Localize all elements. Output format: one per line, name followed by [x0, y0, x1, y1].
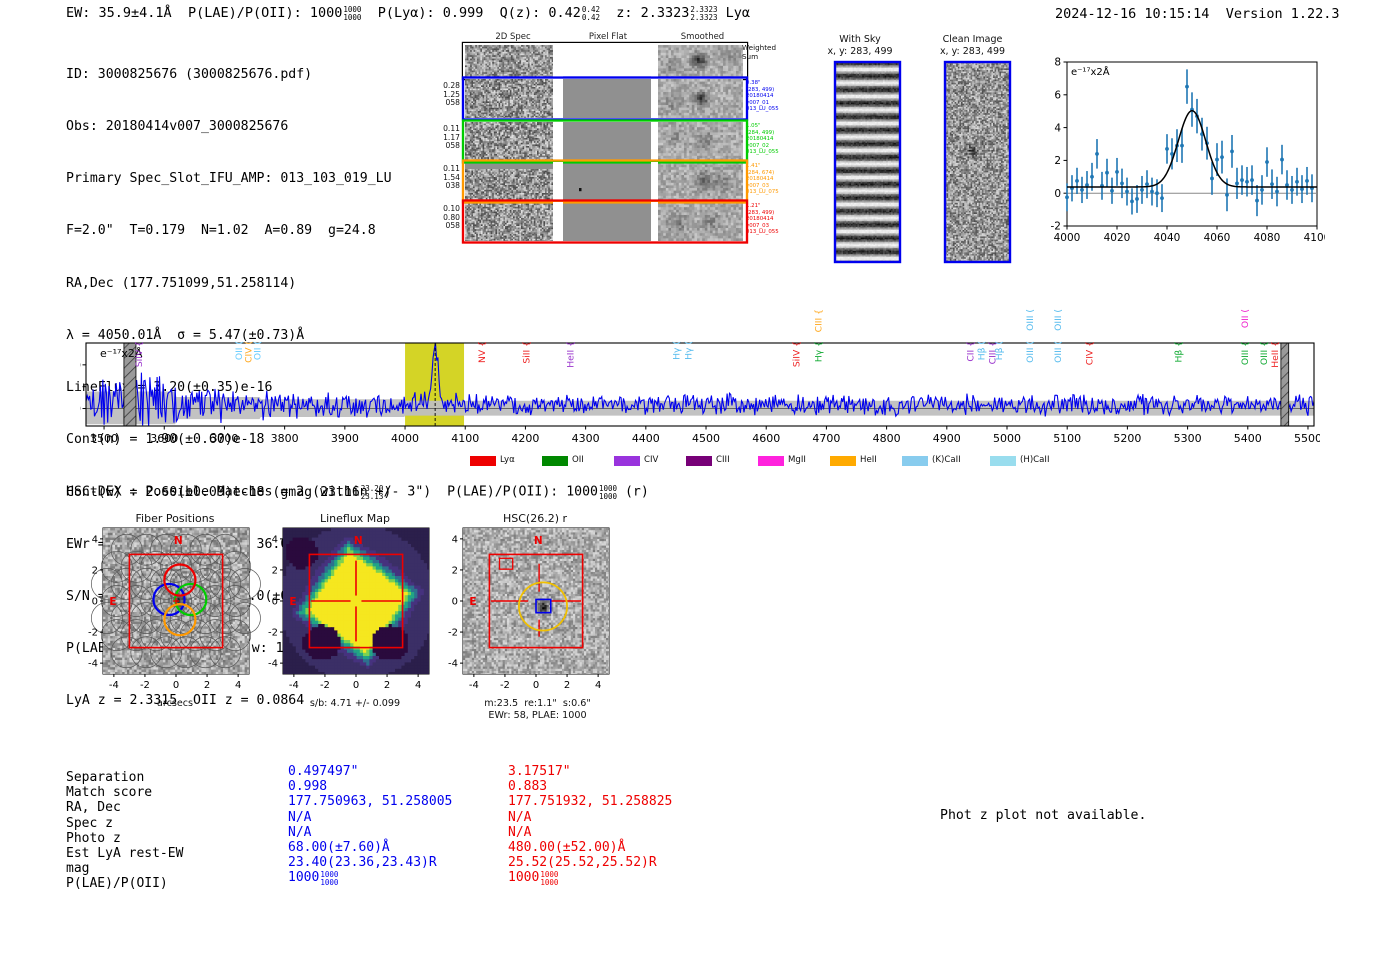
legend-swatch-oii [542, 456, 568, 466]
legend-swatch-lyα [470, 456, 496, 466]
info-obs: Obs: 20180414v007_3000825676 [66, 118, 392, 135]
legend-label-kcaii: (K)CaII [932, 455, 961, 465]
fiber-row-meta-0: 0.38" (283, 499) 20180414 v007_01 013_LU… [746, 80, 779, 113]
fiber-row-stats-0: 0.28 1.25 058 [430, 82, 460, 108]
emission-line-legend: LyαOIICIVCIIIMgIIHeII(K)CaII(H)CaII [470, 455, 940, 469]
match-row-red-7: 100010001000 [508, 870, 558, 885]
spectrum-line-marker-13: Hβ ( [977, 341, 988, 360]
header-qz-label: Q(z): 0.42 [500, 5, 581, 21]
legend-label-lyα: Lyα [500, 455, 515, 465]
spectrum-line-marker-25: HeII { [1270, 341, 1281, 368]
imaging-panels: Fiber Positions Lineflux Map HSC(26.2) r… [55, 506, 675, 746]
spectrum-line-marker-22: OIII { [1240, 341, 1251, 365]
header-timestamp-version: 2024-12-16 10:15:14 Version 1.22.3 [1055, 6, 1340, 22]
photz-note: Phot z plot not available. [940, 808, 1146, 823]
spectrum-line-marker-4: NV { [477, 341, 488, 363]
header-plae-label: P(LAE)/P(OII): 1000 [188, 5, 342, 21]
fiber-row-stats-3: 0.10 0.80 058 [430, 205, 460, 231]
match-row-label-6: mag [66, 861, 89, 876]
info-seeing-params: F=2.0" T=0.179 N=1.02 A=0.89 g=24.8 [66, 222, 392, 239]
match-row-red-5: 480.00(±52.00)Å [508, 840, 625, 855]
legend-swatch-mgii [758, 456, 784, 466]
spectrum-line-marker-8: Hγ ( [684, 341, 695, 360]
header-plae-range: 10001000 [343, 6, 361, 21]
match-row-blue-3: N/A [288, 810, 311, 825]
cutout-images: With Skyx, y: 283, 499 Clean Imagex, y: … [810, 32, 1030, 272]
spectrum-line-marker-3: OII ( [253, 341, 264, 360]
spectrum-line-marker-11: CIII { [814, 309, 825, 332]
hscdex-plae-range: 10001000 [599, 485, 617, 500]
spectrum-line-marker-20: CIV { [1085, 341, 1096, 365]
spectrum-line-marker-10: Hγ { [814, 341, 825, 362]
header-datetime: 2024-12-16 10:15:14 [1055, 6, 1209, 22]
info-id: ID: 3000825676 (3000825676.pdf) [66, 66, 392, 83]
legend-label-civ: CIV [644, 455, 658, 465]
spectrum-line-marker-5: SiII { [522, 341, 533, 364]
header-z-type: Lyα [726, 5, 750, 21]
header-qz-range: 0.420.42 [582, 6, 600, 21]
legend-label-heii: HeII [860, 455, 877, 465]
match-row-blue-1: 0.998 [288, 779, 327, 794]
spectrum-line-marker-23: OII ( [1240, 309, 1251, 328]
match-row-label-1: Match score [66, 785, 152, 800]
legend-label-ciii: CIII [716, 455, 730, 465]
legend-label-oii: OII [572, 455, 584, 465]
match-row-blue-0: 0.497497" [288, 764, 358, 779]
spectrum-line-marker-17: OIII ( [1025, 309, 1036, 331]
fiber-row-meta-3: 1.21" (283, 499) 20180414 v007_03 013_LU… [746, 203, 779, 236]
panel-xlabel-arcsecs: arcsecs [80, 698, 270, 710]
panel-footer-lineflux: s/b: 4.71 +/- 0.099 [260, 698, 450, 710]
spectrum-line-marker-0: SiIV { [134, 341, 145, 367]
legend-swatch-heii [830, 456, 856, 466]
legend-label-mgii: MgII [788, 455, 806, 465]
match-row-blue-6: 23.40(23.36,23.43)R [288, 855, 437, 870]
emission-line-fit-plot: 400040204040406040804100-202468e⁻¹⁷x2Å [1035, 52, 1325, 252]
match-row-blue-4: N/A [288, 825, 311, 840]
spectrum-line-marker-24: OIII { [1259, 341, 1270, 365]
spectrum-line-marker-16: OIII ( [1025, 341, 1036, 363]
match-row-label-3: Spec z [66, 816, 113, 831]
spectrum-line-marker-9: SiIV { [791, 341, 802, 367]
spectrum-line-marker-6: HeII { [566, 341, 577, 368]
header-ew: EW: 35.9±4.1Å [66, 5, 172, 21]
info-primary-spec: Primary Spec_Slot_IFU_AMP: 013_103_019_L… [66, 170, 392, 187]
legend-swatch-hcaii [990, 456, 1016, 466]
header-z-label: z: 2.3323 [616, 5, 689, 21]
legend-swatch-ciii [686, 456, 712, 466]
hscdex-title: HSC-DEX : Possible Matches = 2 (within +… [66, 484, 649, 500]
weighted-sum-label: Weighted Sum [742, 44, 776, 61]
fiber-row-meta-1: 1.05" (284, 499) 20180414 v007_02 013_LU… [746, 123, 779, 156]
match-row-blue-5: 68.00(±7.60)Å [288, 840, 390, 855]
match-row-red-6: 25.52(25.52,25.52)R [508, 855, 657, 870]
spectrum-line-marker-19: OIII ( [1053, 309, 1064, 331]
match-row-red-1: 0.883 [508, 779, 547, 794]
spectrum-line-marker-12: CII { [965, 341, 976, 362]
match-row-label-7: P(LAE)/P(OII) [66, 876, 168, 891]
two-d-spectrum-panel: 2D Spec Pixel Flat Smoothed Weighted Sum… [430, 32, 770, 272]
fiber-row-stats-1: 0.11 1.17 058 [430, 125, 460, 151]
legend-label-hcaii: (H)CaII [1020, 455, 1050, 465]
match-row-red-3: N/A [508, 810, 531, 825]
header-version: Version 1.22.3 [1226, 6, 1340, 22]
match-row-label-0: Separation [66, 770, 144, 785]
legend-swatch-kcaii [902, 456, 928, 466]
header-plya: P(Lyα): 0.999 [378, 5, 484, 21]
spectrum-line-marker-18: OIII ( [1053, 341, 1064, 363]
match-row-blue-2: 177.750963, 51.258005 [288, 794, 452, 809]
legend-swatch-civ [614, 456, 640, 466]
spectrum-line-marker-15: Hβ ( [994, 341, 1005, 360]
match-row-label-5: Est LyA rest-EW [66, 846, 183, 861]
match-row-red-4: N/A [508, 825, 531, 840]
full-spectrum-plot: e⁻¹⁷x2Å350036003700380039004000410042004… [80, 283, 1320, 448]
panel-footer-hsc: m:23.5 re:1.1" s:0.6"EWr: 58, PLAE: 1000 [440, 698, 635, 722]
match-row-red-0: 3.17517" [508, 764, 571, 779]
match-row-label-2: RA, Dec [66, 800, 121, 815]
fiber-row-stats-2: 0.11 1.54 038 [430, 165, 460, 191]
match-row-blue-7: 100010001000 [288, 870, 338, 885]
spectrum-line-marker-7: Hγ ( [672, 341, 683, 360]
header-z-range: 2.33232.3323 [690, 6, 717, 21]
match-row-red-2: 177.751932, 51.258825 [508, 794, 672, 809]
header-summary-line: EW: 35.9±4.1Å P(LAE)/P(OII): 10001000100… [66, 5, 750, 21]
match-row-label-4: Photo z [66, 831, 121, 846]
fiber-row-meta-2: 1.41" (284, 674) 20180414 v007_03 013_LU… [746, 163, 779, 196]
spectrum-line-marker-21: Hβ { [1174, 341, 1185, 363]
